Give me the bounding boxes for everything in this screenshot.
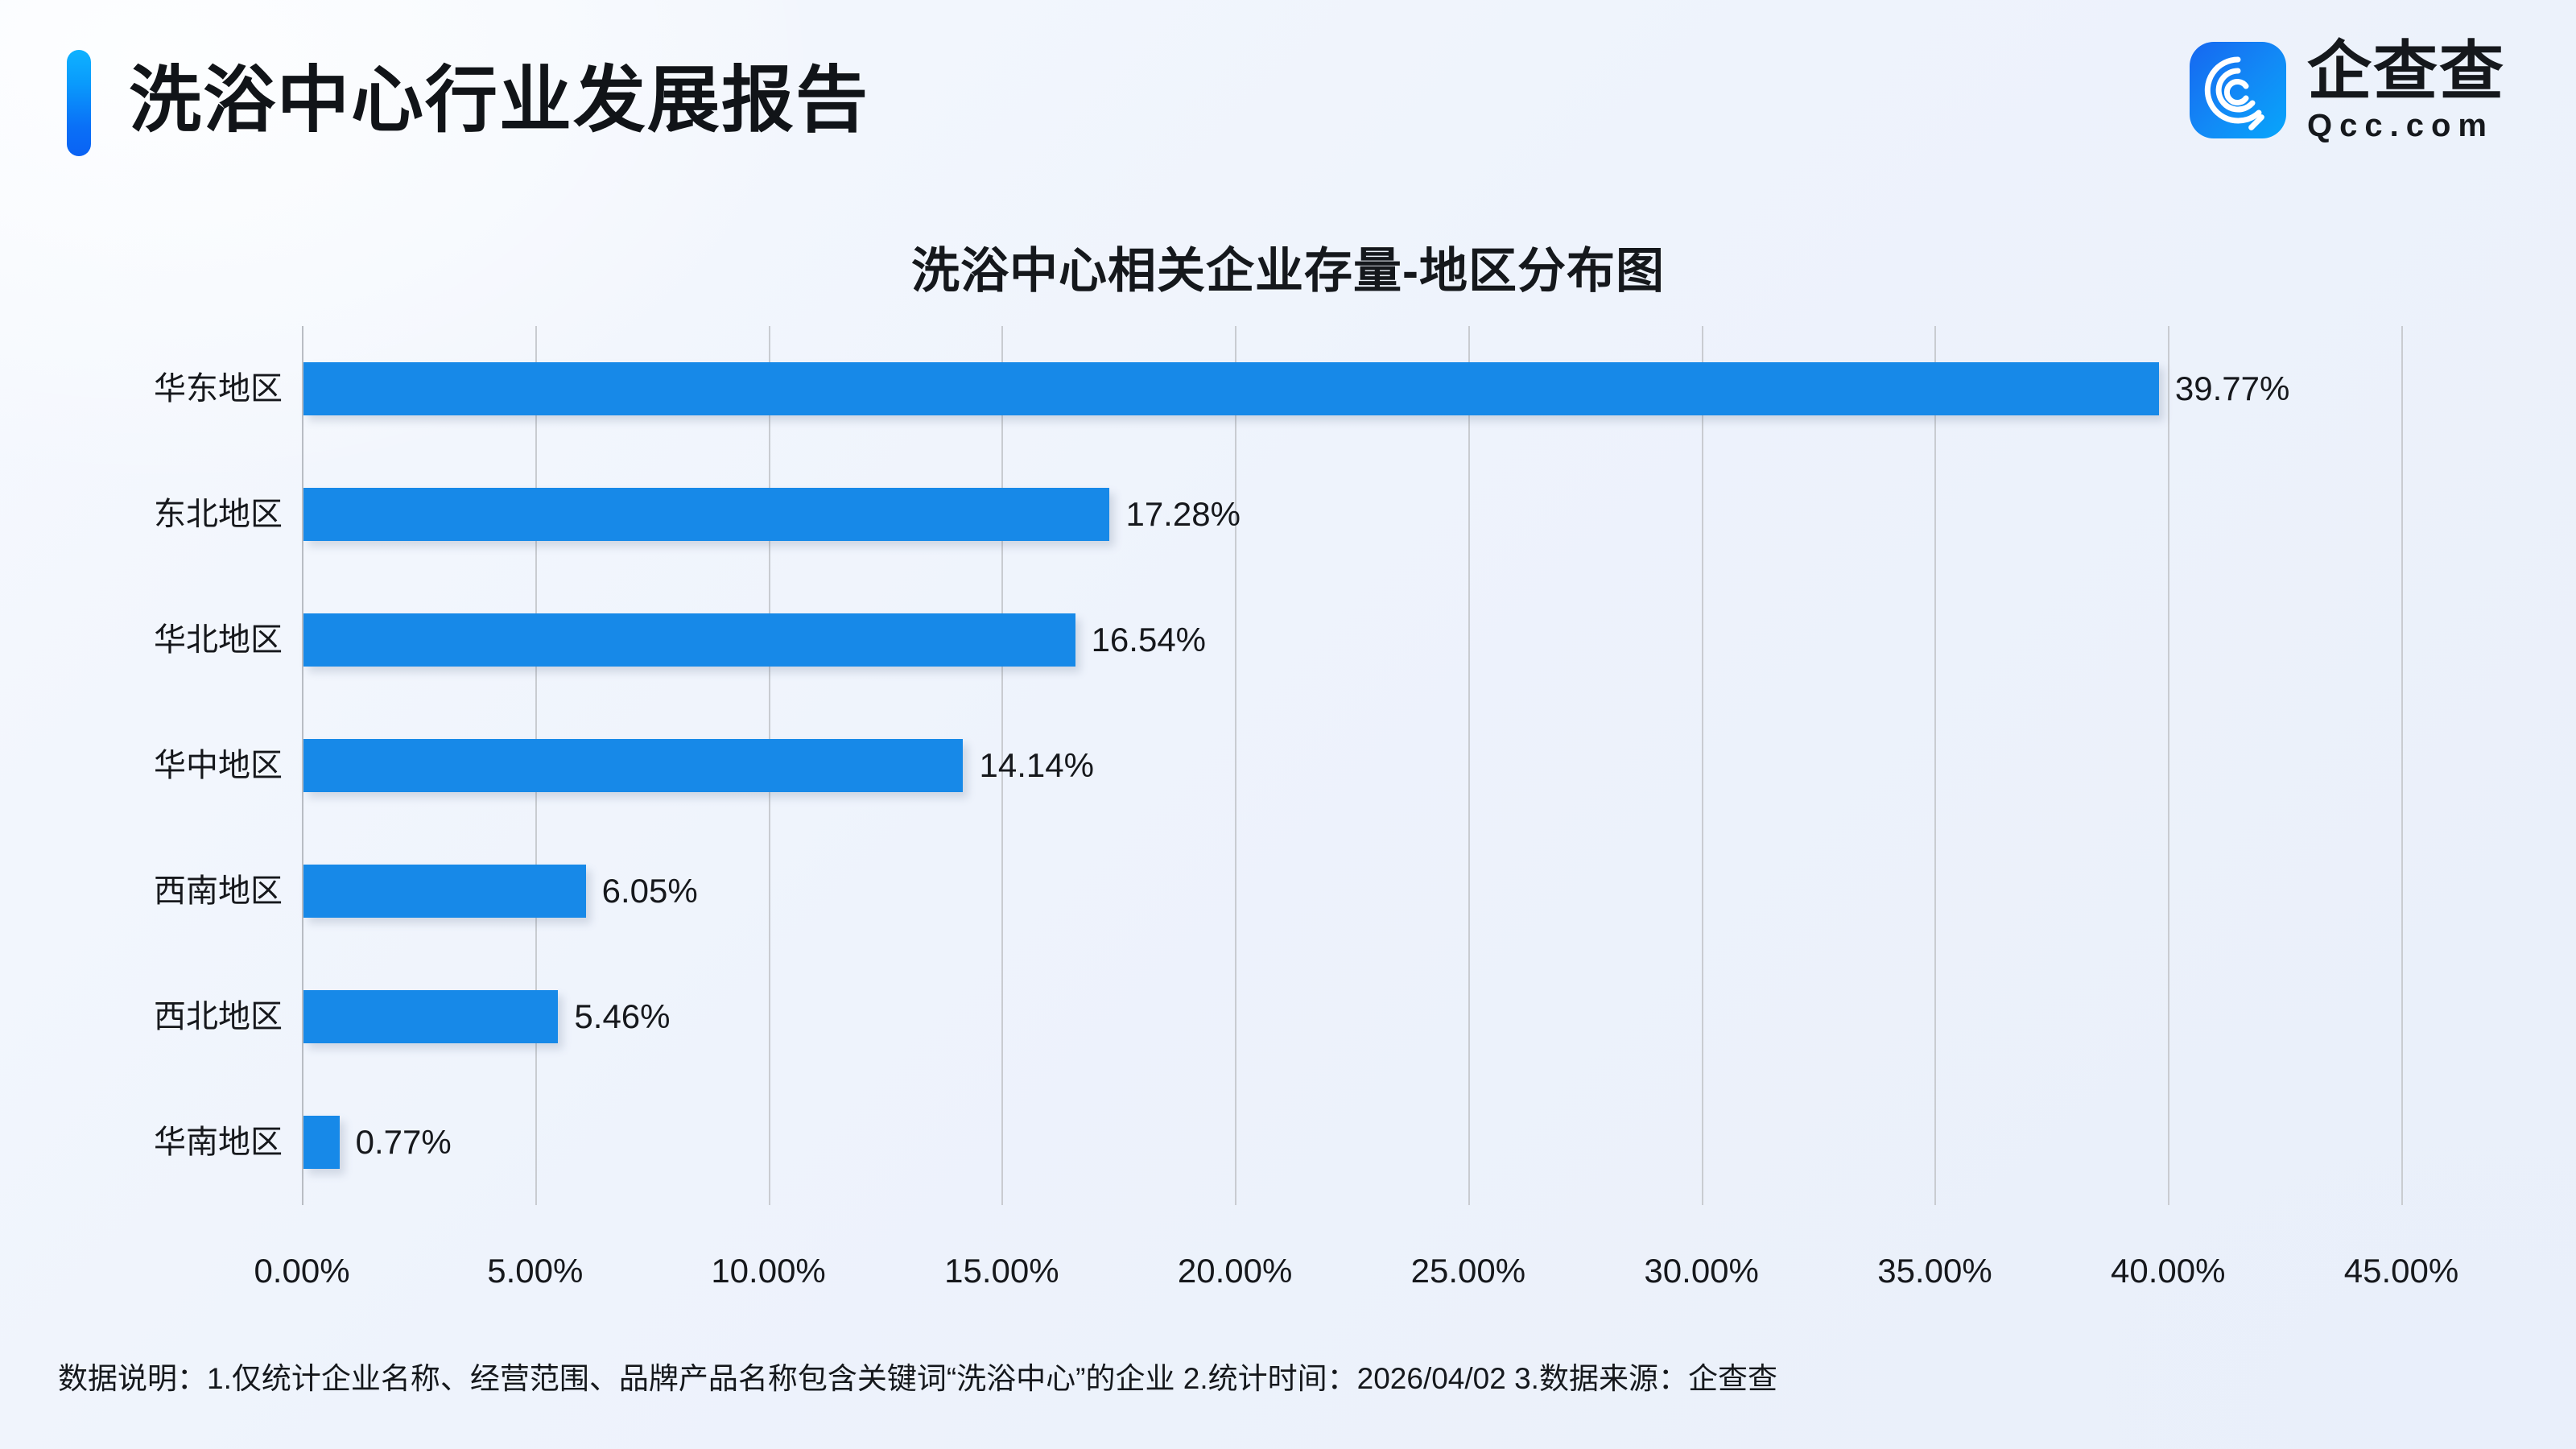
- y-axis-label: 华南地区: [41, 1116, 283, 1169]
- x-axis-tick-label: 40.00%: [2111, 1252, 2225, 1290]
- bar-value-label: 17.28%: [1125, 488, 1240, 541]
- x-axis-tick-label: 20.00%: [1178, 1252, 1292, 1290]
- x-axis-tick-label: 25.00%: [1411, 1252, 1525, 1290]
- bar-value-label: 16.54%: [1092, 613, 1206, 667]
- x-axis-tick-label: 45.00%: [2344, 1252, 2458, 1290]
- x-axis-tick-label: 10.00%: [711, 1252, 825, 1290]
- y-axis-label: 华中地区: [41, 739, 283, 792]
- report-page: 洗浴中心行业发展报告 企查查 Qcc.com 洗浴中心相关企业存量-地区分布图 …: [0, 0, 2576, 1449]
- bar[interactable]: [303, 613, 1075, 667]
- title-accent-bar: [67, 50, 91, 156]
- gridline: [1468, 326, 1470, 1205]
- x-axis-tick-label: 0.00%: [254, 1252, 349, 1290]
- y-axis-label: 华东地区: [41, 362, 283, 415]
- bar-value-label: 5.46%: [574, 990, 670, 1043]
- bar[interactable]: [303, 1116, 340, 1169]
- bar-value-label: 0.77%: [356, 1116, 452, 1169]
- bar[interactable]: [303, 739, 963, 792]
- y-axis-label: 东北地区: [41, 488, 283, 541]
- bar[interactable]: [303, 488, 1109, 541]
- y-axis-label: 西南地区: [41, 865, 283, 918]
- bar[interactable]: [303, 865, 586, 918]
- page-title: 洗浴中心行业发展报告: [129, 40, 869, 161]
- x-axis-tick-label: 30.00%: [1644, 1252, 1758, 1290]
- page-header: 洗浴中心行业发展报告 企查查 Qcc.com: [0, 0, 2576, 201]
- x-axis-tick-label: 15.00%: [944, 1252, 1059, 1290]
- gridline: [1235, 326, 1236, 1205]
- bar-value-label: 6.05%: [602, 865, 698, 918]
- qcc-logo-icon: [2190, 42, 2286, 138]
- brand-name-en: Qcc.com: [2307, 109, 2505, 142]
- chart-title: 洗浴中心相关企业存量-地区分布图: [0, 232, 2576, 302]
- gridline: [2168, 326, 2169, 1205]
- bar[interactable]: [303, 990, 558, 1043]
- bar-value-label: 14.14%: [979, 739, 1093, 792]
- gridline: [1934, 326, 1936, 1205]
- gridline: [2401, 326, 2403, 1205]
- brand-logo[interactable]: 企查查 Qcc.com: [2190, 42, 2505, 138]
- brand-wordmark: 企查查 Qcc.com: [2307, 38, 2505, 142]
- gridline: [1702, 326, 1703, 1205]
- y-axis-label: 西北地区: [41, 990, 283, 1043]
- x-axis-tick-label: 35.00%: [1877, 1252, 1992, 1290]
- x-axis-tick-label: 5.00%: [487, 1252, 583, 1290]
- bar[interactable]: [303, 362, 2159, 415]
- brand-name-cn: 企查查: [2307, 38, 2505, 105]
- chart-plot-area: 39.77%17.28%16.54%14.14%6.05%5.46%0.77%: [302, 326, 2401, 1205]
- y-axis-label: 华北地区: [41, 613, 283, 667]
- bar-value-label: 39.77%: [2175, 362, 2289, 415]
- data-note: 数据说明：1.仅统计企业名称、经营范围、品牌产品名称包含关键词“洗浴中心”的企业…: [58, 1354, 1777, 1397]
